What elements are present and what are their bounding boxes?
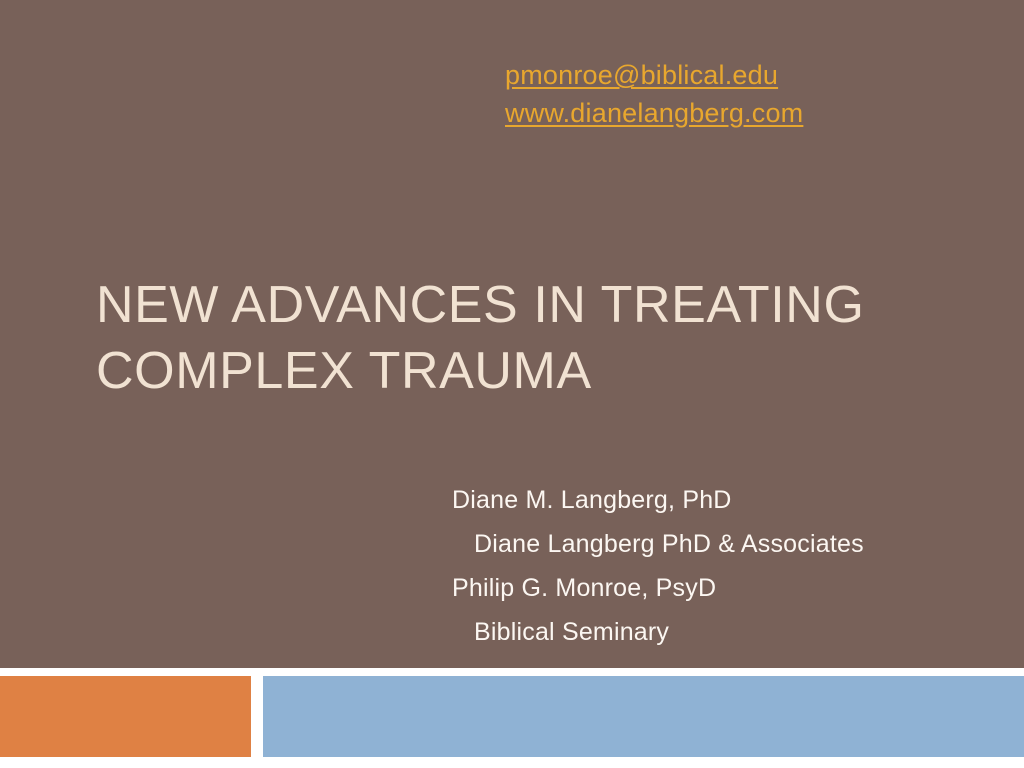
decorative-bar-orange (0, 676, 251, 757)
slide-subtitle: Diane M. Langberg, PhD Diane Langberg Ph… (452, 478, 992, 654)
presenter-affiliation-2: Biblical Seminary (452, 610, 992, 654)
contact-links-block: pmonroe@biblical.edu www.dianelangberg.c… (505, 56, 965, 132)
presenter-name-1: Diane M. Langberg, PhD (452, 478, 992, 522)
decorative-bar-blue (263, 676, 1024, 757)
presenter-name-2: Philip G. Monroe, PsyD (452, 566, 992, 610)
slide-title: NEW ADVANCES IN TREATING COMPLEX TRAUMA (96, 272, 896, 404)
presentation-slide: pmonroe@biblical.edu www.dianelangberg.c… (0, 0, 1024, 768)
email-link[interactable]: pmonroe@biblical.edu (505, 56, 965, 94)
website-link[interactable]: www.dianelangberg.com (505, 94, 965, 132)
presenter-affiliation-1: Diane Langberg PhD & Associates (452, 522, 992, 566)
title-line-1: NEW ADVANCES IN TREATING (96, 272, 896, 338)
title-line-2: COMPLEX TRAUMA (96, 338, 896, 404)
